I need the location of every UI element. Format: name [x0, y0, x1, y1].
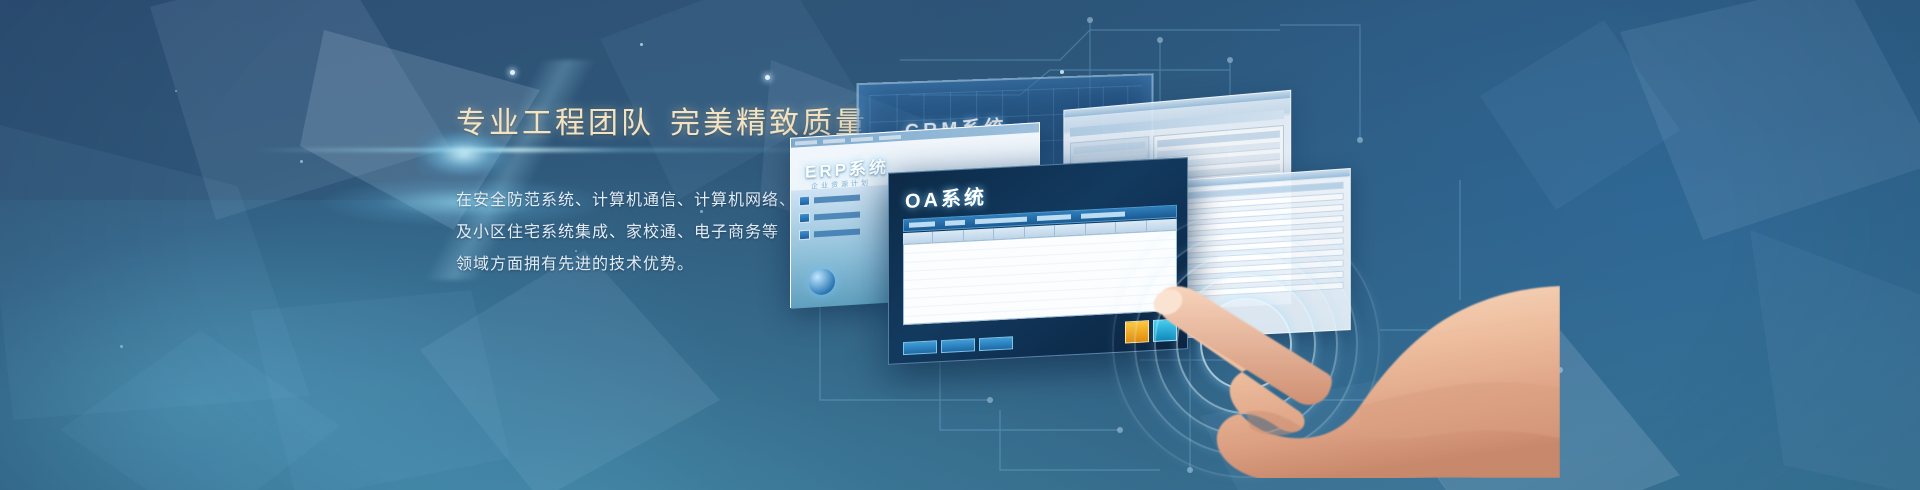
vignette	[0, 0, 1920, 490]
hero-banner: 专业工程团队完美精致质量 在安全防范系统、计算机通信、计算机网络、智能大厦 及小…	[0, 0, 1920, 490]
